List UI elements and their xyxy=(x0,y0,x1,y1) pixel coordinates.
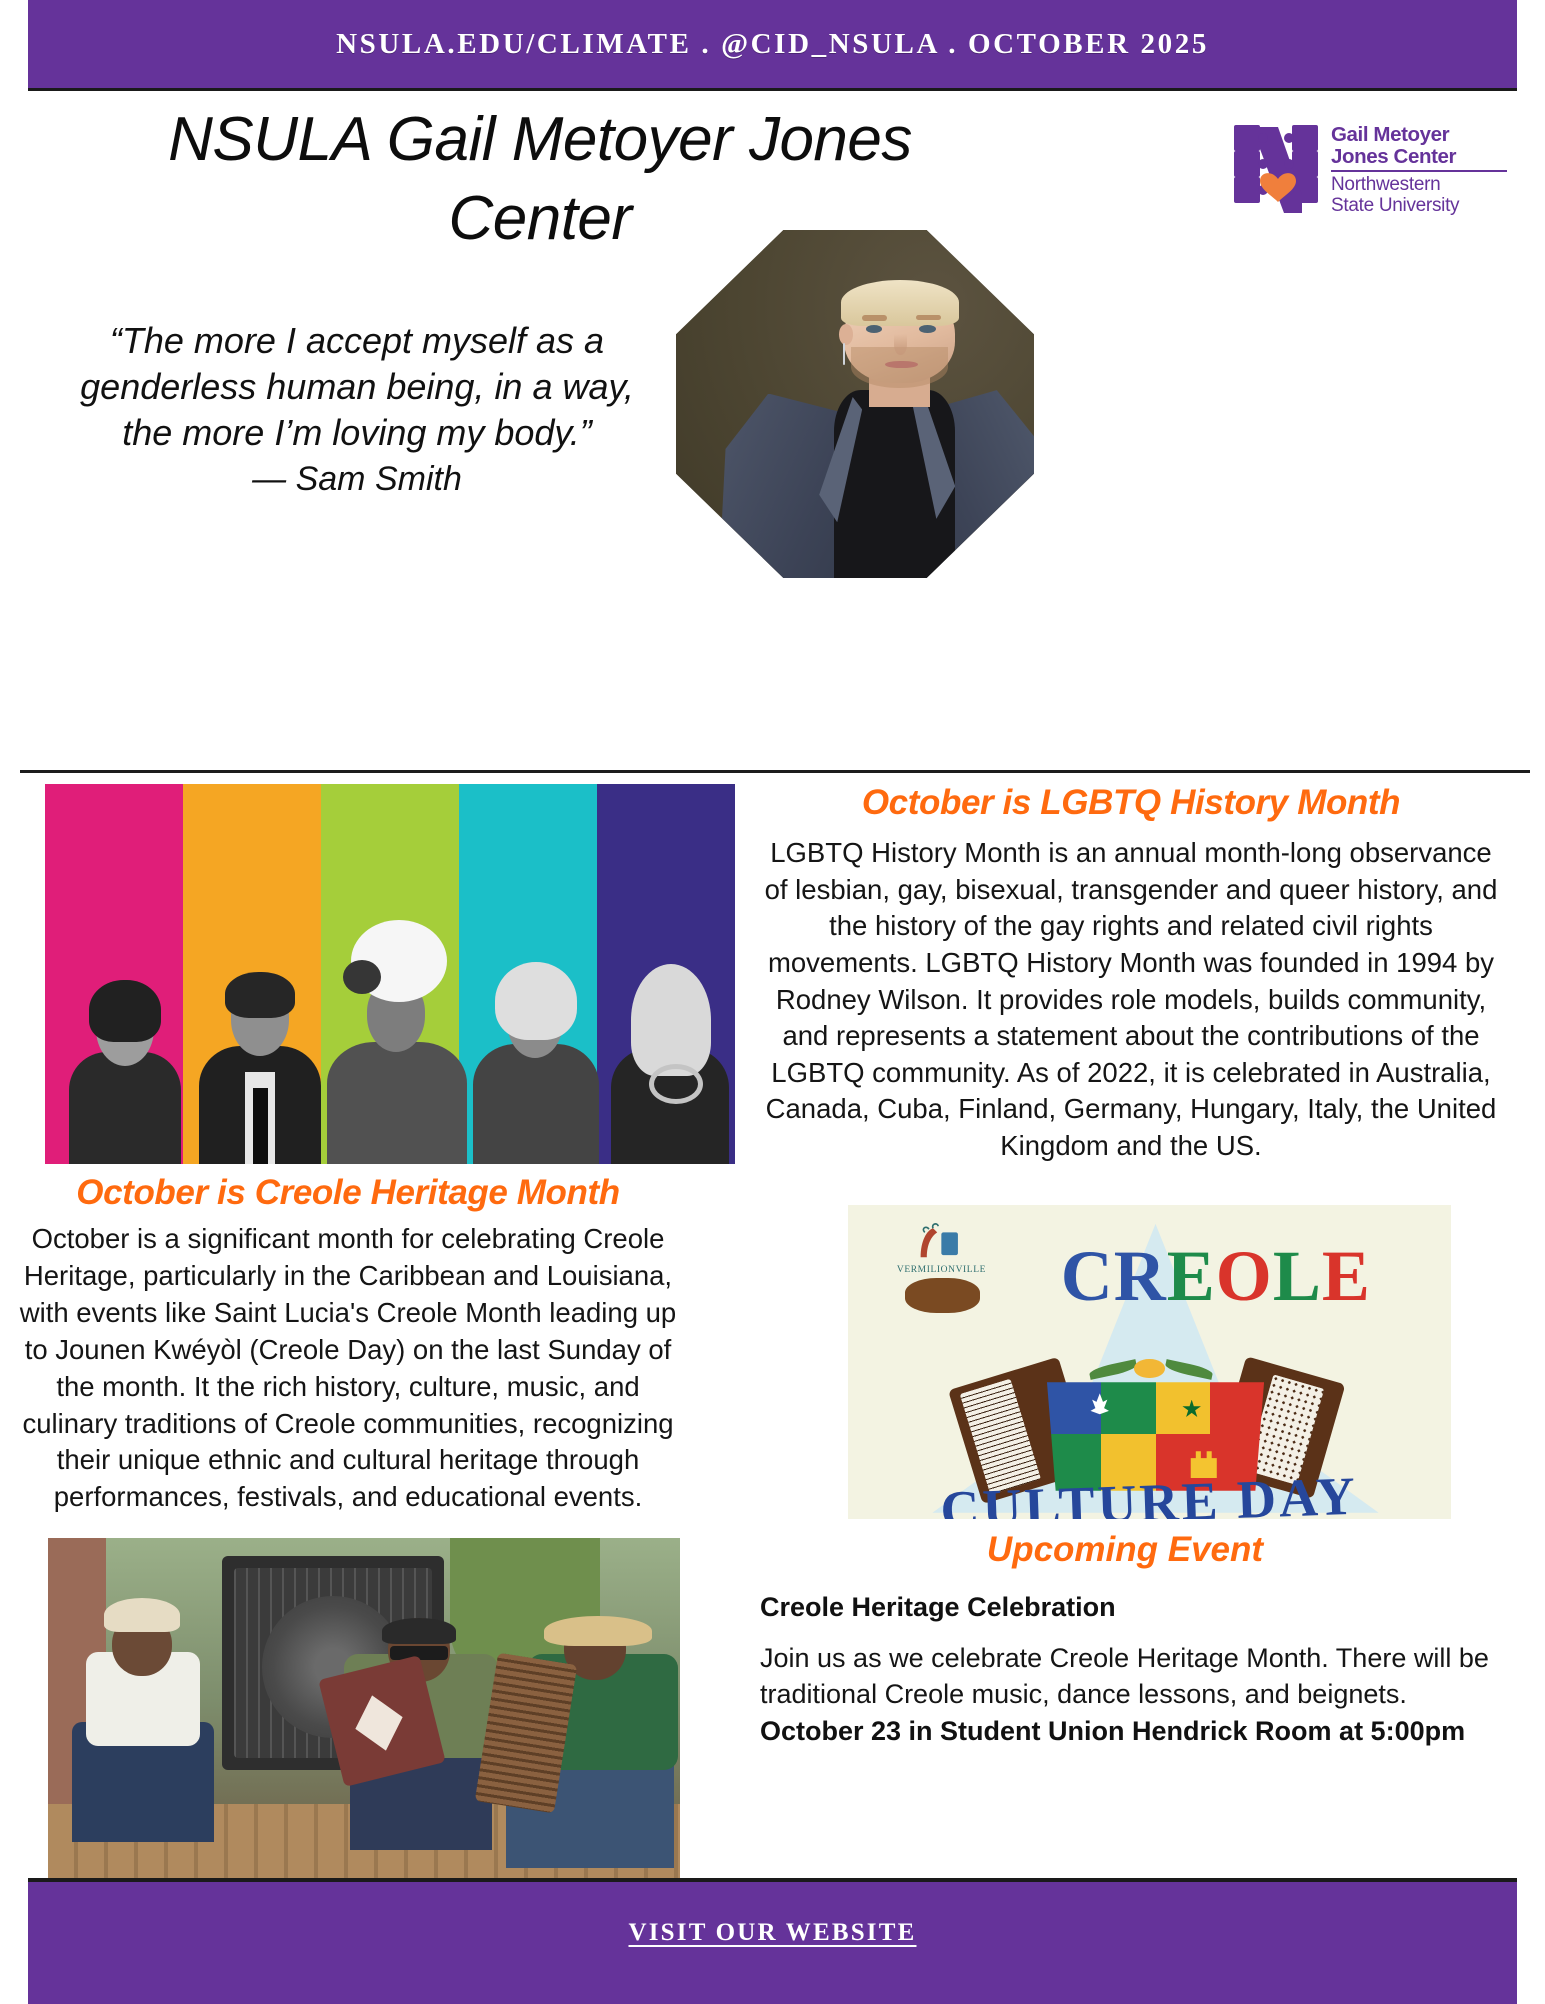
pride-figure-4 xyxy=(469,932,603,1164)
newsletter-page: NSULA.EDU/CLIMATE . @CID_NSULA . OCTOBER… xyxy=(0,0,1545,2000)
figure-torso xyxy=(69,1052,181,1164)
lgbtq-body: LGBTQ History Month is an annual month-l… xyxy=(760,835,1502,1164)
logo-line-3: Northwestern xyxy=(1331,175,1507,196)
figure-hair xyxy=(631,964,711,1076)
pride-figure-3 xyxy=(327,914,467,1164)
bellows-cell xyxy=(1156,1378,1210,1435)
upcoming-event-section: Upcoming Event Creole Heritage Celebrati… xyxy=(760,1530,1490,1750)
featured-quote: “The more I accept myself as a genderles… xyxy=(52,318,662,502)
logo-line-4: State University xyxy=(1331,196,1507,217)
puzzle-n-heart-icon xyxy=(1232,121,1324,221)
vermilionville-label: VERMILIONVILLE xyxy=(872,1265,1011,1275)
figure-torso xyxy=(473,1044,599,1164)
vermilionville-logo: VERMILIONVILLE xyxy=(872,1224,1011,1328)
poster-creole-word: CREOLE xyxy=(999,1240,1433,1312)
portrait-hair xyxy=(841,280,959,325)
top-banner: NSULA.EDU/CLIMATE . @CID_NSULA . OCTOBER… xyxy=(28,0,1517,91)
portrait-eyebrow-left xyxy=(862,315,887,321)
creole-body: October is a significant month for celeb… xyxy=(18,1221,678,1516)
portrait-eye-right xyxy=(919,325,935,333)
pride-figure-2 xyxy=(197,942,323,1164)
pride-figure-1 xyxy=(65,954,183,1164)
visit-our-website-link[interactable]: VISIT OUR WEBSITE xyxy=(629,1919,917,1947)
musician-accordion-player xyxy=(340,1612,502,1850)
quote-attribution: — Sam Smith xyxy=(52,458,662,502)
bellows-cell xyxy=(1210,1378,1264,1435)
poster-flower-icon xyxy=(1134,1359,1164,1378)
lgbtq-history-section: October is LGBTQ History Month LGBTQ His… xyxy=(760,782,1502,1164)
figure-hair xyxy=(225,972,295,1018)
creole-letter: E xyxy=(1167,1240,1216,1312)
creole-letter: R xyxy=(1114,1240,1167,1312)
logo-line-1: Gail Metoyer xyxy=(1331,124,1507,146)
portrait-ear xyxy=(839,324,853,345)
portrait-lips xyxy=(885,361,917,369)
footer-bar: VISIT OUR WEBSITE xyxy=(28,1878,1517,2004)
quote-text: “The more I accept myself as a genderles… xyxy=(52,318,662,456)
lgbtq-figures-image xyxy=(45,784,735,1164)
figure-necklace xyxy=(649,1064,703,1104)
portrait-eyebrow-right xyxy=(916,315,941,321)
vermilionville-house-icon xyxy=(905,1278,980,1313)
figure-torso xyxy=(327,1042,467,1164)
upcoming-event-heading: Upcoming Event xyxy=(760,1530,1490,1570)
event-datetime-location: October 23 in Student Union Hendrick Roo… xyxy=(760,1714,1490,1750)
lgbtq-heading: October is LGBTQ History Month xyxy=(760,782,1502,823)
creole-letter: E xyxy=(1322,1240,1371,1312)
portrait-nose xyxy=(894,334,907,355)
event-title: Creole Heritage Celebration xyxy=(760,1592,1490,1623)
bellows-cell xyxy=(1101,1378,1155,1435)
logo-line-2: Jones Center xyxy=(1331,146,1507,168)
figure-tie xyxy=(253,1088,268,1164)
musician-rubboard-player xyxy=(492,1602,680,1868)
sam-smith-portrait xyxy=(676,230,1034,578)
figure-hair xyxy=(495,962,577,1040)
musician-triangle-player xyxy=(68,1614,218,1842)
section-divider xyxy=(20,770,1530,773)
pride-figure-5 xyxy=(609,938,731,1164)
creole-culture-day-poster: VERMILIONVILLE CREOLE xyxy=(848,1205,1451,1519)
creole-musicians-image xyxy=(48,1538,680,1878)
portrait-earring xyxy=(843,343,845,365)
banner-text: NSULA.EDU/CLIMATE . @CID_NSULA . OCTOBER… xyxy=(336,28,1209,61)
creole-heritage-section: October is Creole Heritage Month October… xyxy=(18,1172,678,1516)
creole-heading: October is Creole Heritage Month xyxy=(18,1172,678,1213)
logo-divider xyxy=(1331,170,1507,172)
figure-hair xyxy=(89,980,161,1042)
creole-letter: L xyxy=(1273,1240,1322,1312)
creole-letter: O xyxy=(1216,1240,1273,1312)
gail-metoyer-jones-center-logo: Gail Metoyer Jones Center Northwestern S… xyxy=(1232,118,1504,223)
bellows-cell xyxy=(1047,1378,1101,1435)
event-description: Join us as we celebrate Creole Heritage … xyxy=(760,1641,1490,1712)
creole-letter: C xyxy=(1061,1240,1114,1312)
logo-wordmark: Gail Metoyer Jones Center Northwestern S… xyxy=(1331,124,1507,217)
figure-flower xyxy=(343,960,381,994)
